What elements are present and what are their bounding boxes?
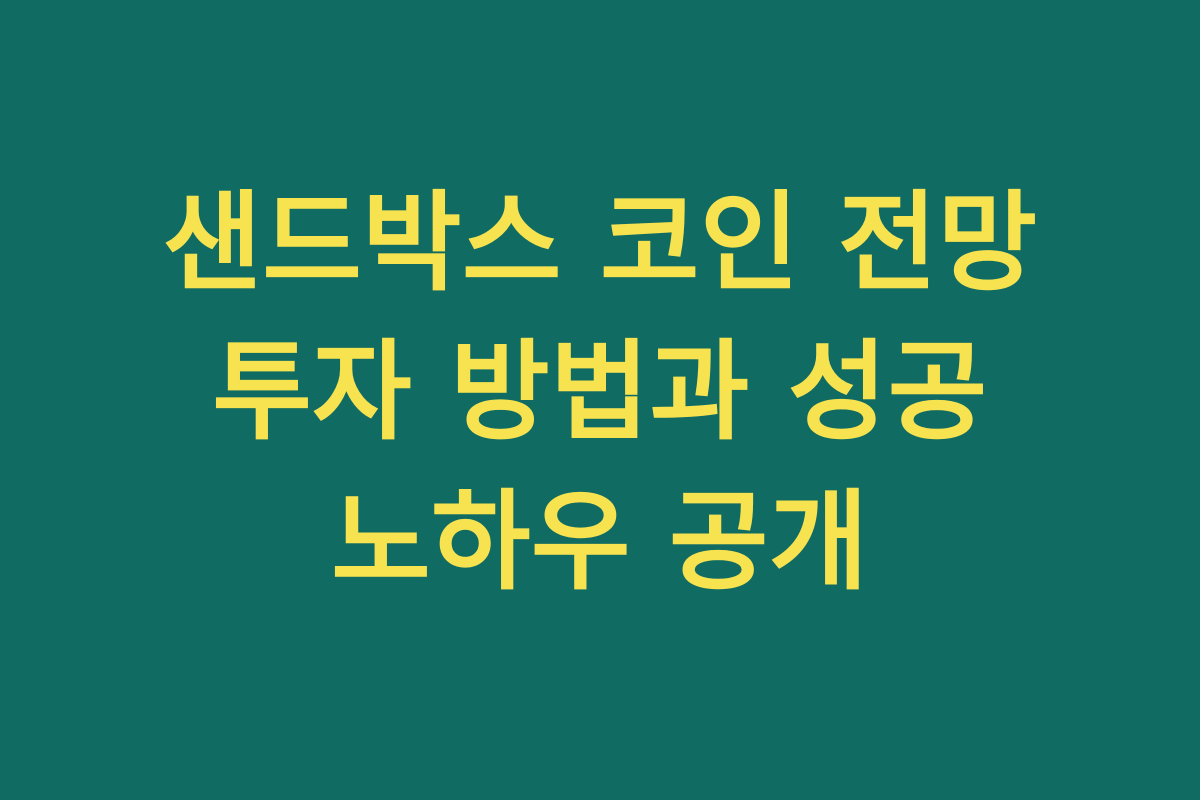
banner-canvas: 샌드박스 코인 전망 투자 방법과 성공 노하우 공개	[0, 0, 1200, 800]
title-block: 샌드박스 코인 전망 투자 방법과 성공 노하우 공개	[100, 169, 1100, 616]
banner-title: 샌드박스 코인 전망 투자 방법과 성공 노하우 공개	[110, 169, 1090, 616]
